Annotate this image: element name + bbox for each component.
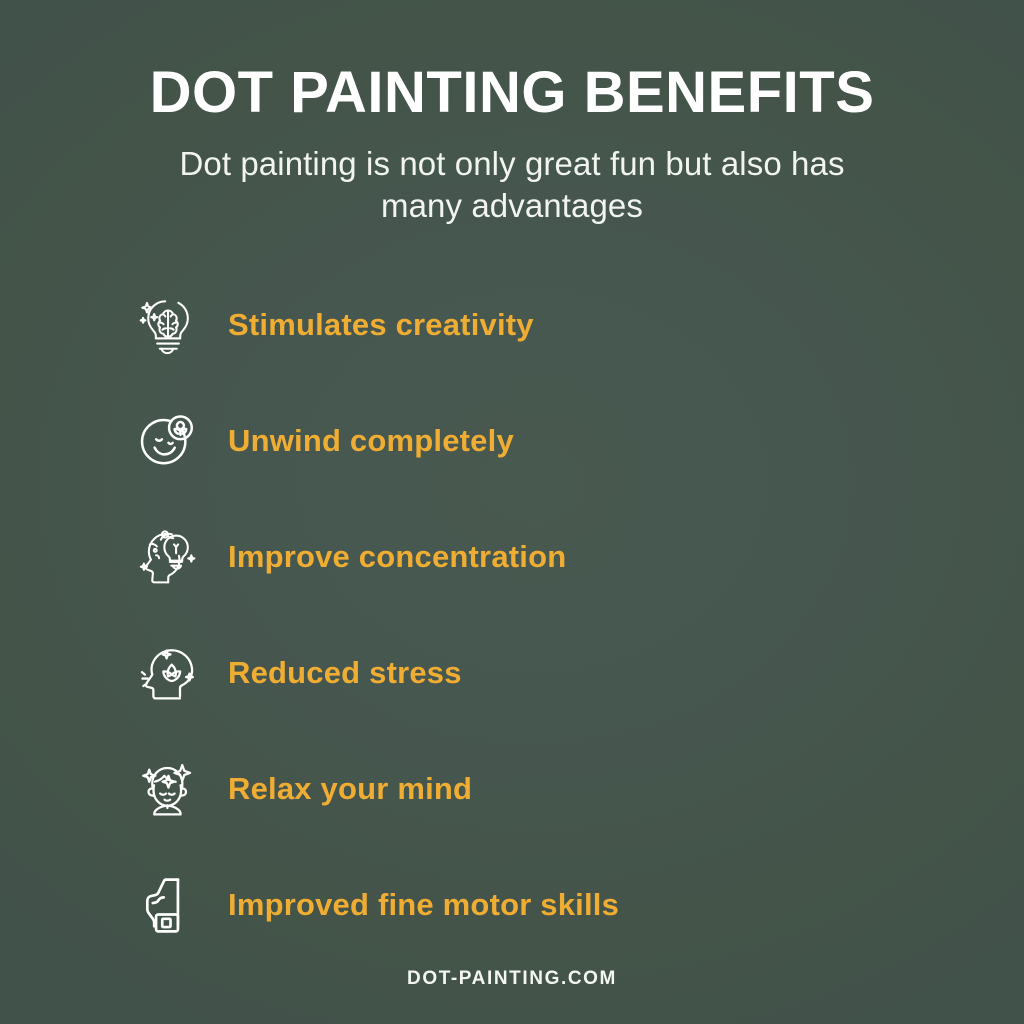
page-title: DOT PAINTING BENEFITS — [0, 62, 1024, 123]
relaxed-face-stars-icon — [132, 754, 202, 824]
brain-lightbulb-icon — [132, 290, 202, 360]
benefits-list: Stimulates creativity Unwind completely — [0, 267, 1024, 963]
hand-holding-brush-icon — [132, 870, 202, 940]
list-item: Reduced stress — [0, 615, 1024, 731]
smiley-flower-icon — [132, 406, 202, 476]
poster-header: DOT PAINTING BENEFITS Dot painting is no… — [0, 0, 1024, 227]
benefit-label: Relax your mind — [228, 771, 472, 807]
benefit-label: Stimulates creativity — [228, 307, 534, 343]
list-item: Improve concentration — [0, 499, 1024, 615]
list-item: Improved fine motor skills — [0, 847, 1024, 963]
head-lotus-icon — [132, 638, 202, 708]
poster-footer: DOT-PAINTING.COM — [0, 968, 1024, 990]
website-url: DOT-PAINTING.COM — [407, 968, 617, 989]
list-item: Relax your mind — [0, 731, 1024, 847]
benefit-label: Improve concentration — [228, 539, 566, 575]
head-lightbulb-icon — [132, 522, 202, 592]
benefit-label: Reduced stress — [228, 655, 462, 691]
list-item: Unwind completely — [0, 383, 1024, 499]
list-item: Stimulates creativity — [0, 267, 1024, 383]
benefit-label: Improved fine motor skills — [228, 887, 619, 923]
benefit-label: Unwind completely — [228, 423, 514, 459]
page-subtitle: Dot painting is not only great fun but a… — [142, 143, 882, 226]
infographic-poster: DOT PAINTING BENEFITS Dot painting is no… — [0, 0, 1024, 1024]
